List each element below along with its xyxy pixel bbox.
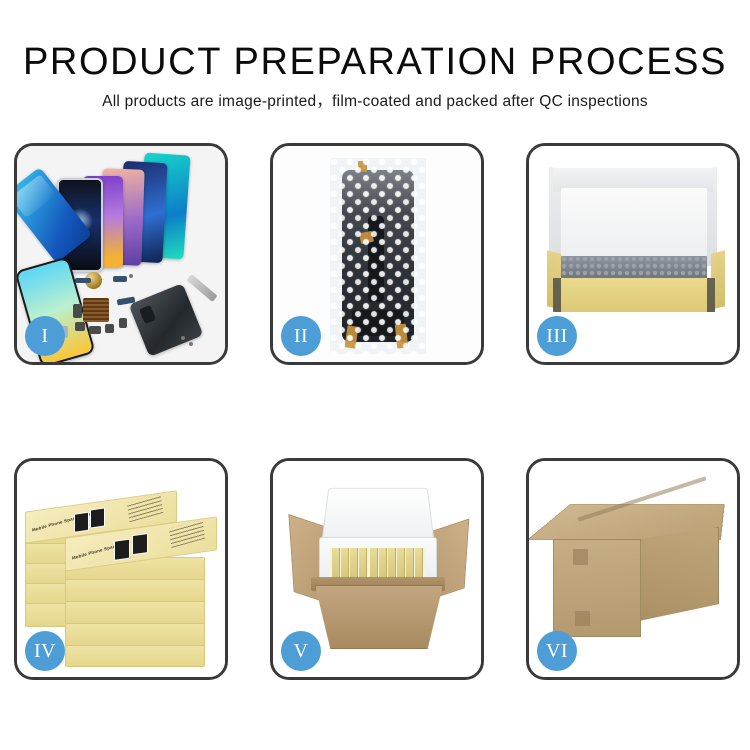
step-badge-5: V (281, 631, 321, 671)
flex-cable-part (75, 278, 91, 283)
vibrator-part (89, 326, 101, 334)
button-part (105, 324, 114, 333)
box-print-thumb-front-1 (114, 539, 130, 561)
box-print-textlines-rear (127, 493, 163, 522)
tweezers-tool (186, 274, 217, 302)
step-panel-1: I (14, 143, 228, 365)
phone-back-housing (129, 283, 204, 357)
page-subtitle: All products are image-printed，film-coat… (0, 83, 750, 112)
page-header: PRODUCT PREPARATION PROCESS All products… (0, 0, 750, 112)
step-badge-1: I (25, 316, 65, 356)
process-steps-grid: I II (14, 143, 738, 683)
bubble-texture-overlay (330, 158, 426, 354)
step-panel-4: Mobile Phone Spare Parts Mobile Phone Sp… (14, 458, 228, 680)
step-badge-4: IV (25, 631, 65, 671)
stacked-box-f3 (65, 601, 205, 625)
box-print-textlines-front (169, 519, 205, 548)
box-print-thumb-front-2 (132, 533, 148, 555)
step-panel-2: II (270, 143, 484, 365)
step-panel-6: VI (526, 458, 740, 680)
small-module-part (73, 304, 82, 318)
step-badge-3: III (537, 316, 577, 356)
styrofoam-lid (321, 488, 435, 544)
carton-front-face (553, 539, 641, 637)
chip-grid-part (83, 298, 109, 322)
sim-tray-part (119, 318, 127, 328)
page-title: PRODUCT PREPARATION PROCESS (0, 0, 750, 83)
step-badge-2: II (281, 316, 321, 356)
speaker-part (75, 322, 85, 331)
stacked-box-f5 (65, 645, 205, 667)
step-panel-5: V (270, 458, 484, 680)
box-print-thumb-rear-2 (90, 507, 105, 528)
step-panel-3: III (526, 143, 740, 365)
white-foam-sheet (561, 188, 707, 256)
step-badge-6: VI (537, 631, 577, 671)
screw-part-3 (189, 342, 193, 346)
gray-bubble-wrap-layer (561, 256, 707, 280)
stacked-box-f2 (65, 579, 205, 603)
box-print-thumb-rear-1 (74, 512, 89, 533)
screw-part-1 (129, 274, 133, 278)
carton-right-face (639, 527, 719, 621)
stacked-box-f4 (65, 623, 205, 647)
box-front-panel (553, 278, 715, 312)
carton-body (315, 585, 443, 649)
bubble-wrap-bag (330, 158, 426, 354)
carton-tape-upper (573, 549, 588, 565)
connector-part (113, 276, 127, 282)
screw-part-2 (181, 336, 185, 340)
carton-tape-lower (575, 611, 590, 626)
